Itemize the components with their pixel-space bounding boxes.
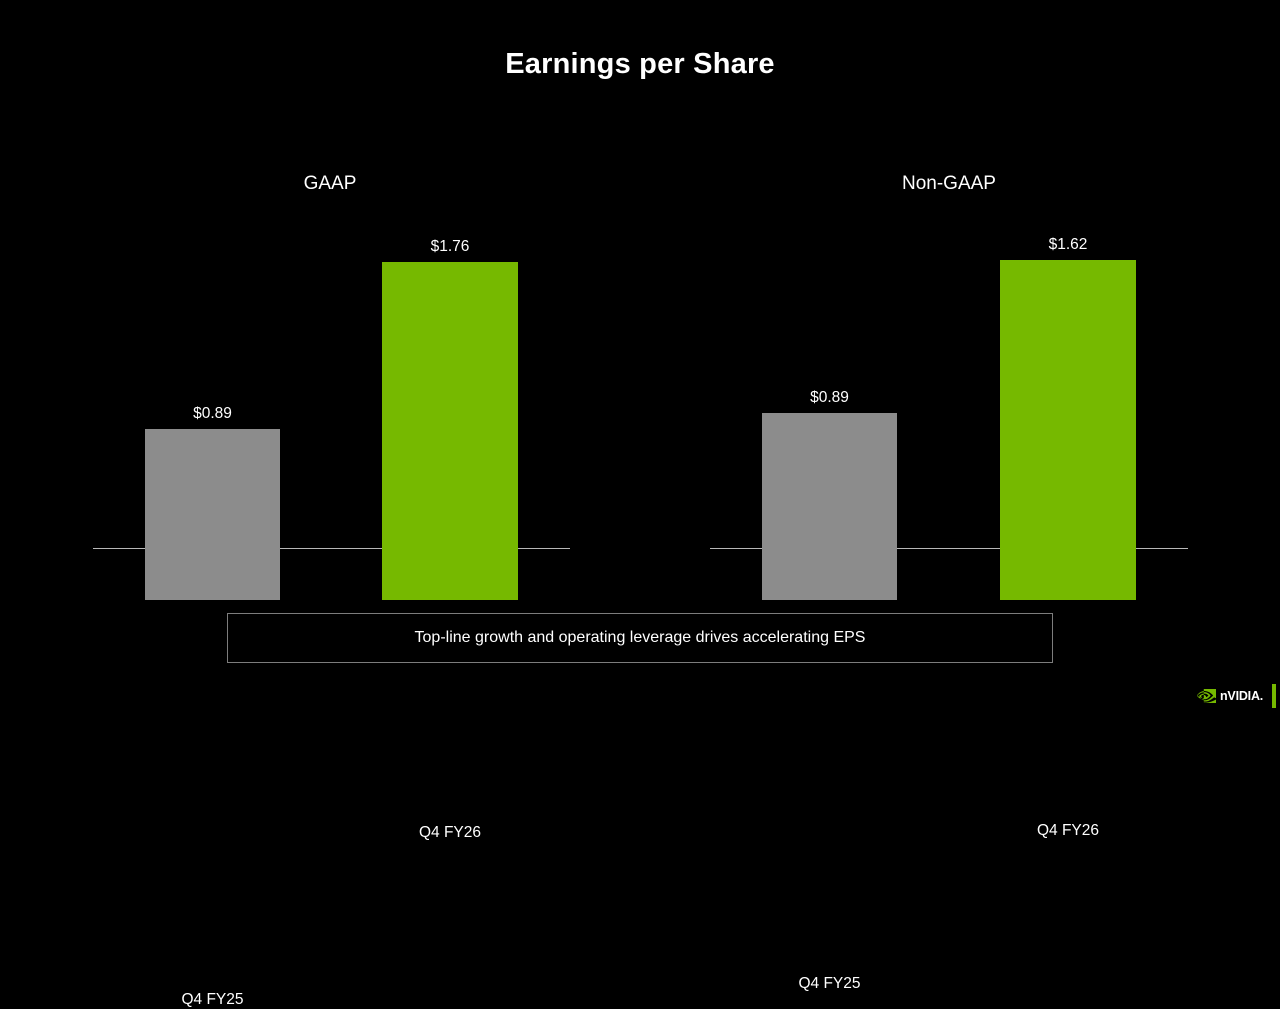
bar-fill bbox=[1000, 260, 1136, 600]
nvidia-eye-icon bbox=[1197, 689, 1216, 703]
bar-value-label: $1.62 bbox=[960, 236, 1176, 254]
bar-category-label: Q4 FY25 bbox=[95, 991, 330, 1009]
logo-accent-bar bbox=[1272, 684, 1276, 708]
nvidia-logo: nVIDIA. bbox=[1197, 686, 1265, 706]
slide-canvas: Earnings per Share GAAP $0.89 Q4 FY25 $1… bbox=[0, 0, 1280, 720]
bar-category-label: Q4 FY26 bbox=[332, 824, 568, 842]
caption-box: Top-line growth and operating leverage d… bbox=[227, 613, 1053, 663]
caption-text: Top-line growth and operating leverage d… bbox=[415, 629, 866, 647]
nvidia-wordmark: nVIDIA. bbox=[1220, 690, 1263, 703]
bar-non-gaap-q4fy26[interactable]: $1.62 Q4 FY26 bbox=[1000, 260, 1136, 600]
chart-panel-non-gaap: Non-GAAP $0.89 Q4 FY25 $1.62 Q4 FY26 bbox=[0, 0, 1280, 600]
bar-value-label: $0.89 bbox=[722, 389, 937, 407]
bar-category-label: Q4 FY26 bbox=[950, 822, 1186, 840]
panel-label-non-gaap: Non-GAAP bbox=[869, 173, 1029, 195]
bar-non-gaap-q4fy25[interactable]: $0.89 Q4 FY25 bbox=[762, 413, 897, 600]
bar-category-label: Q4 FY25 bbox=[712, 975, 947, 993]
bar-fill bbox=[762, 413, 897, 600]
